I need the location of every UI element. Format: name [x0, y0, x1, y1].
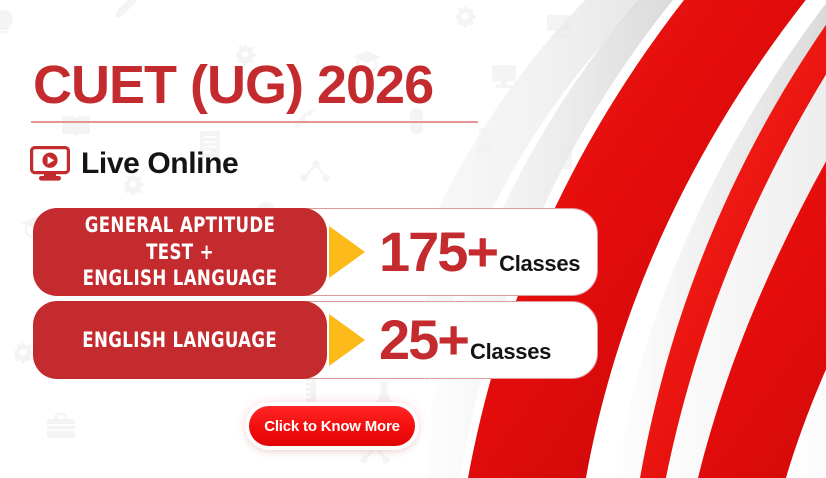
- monitor-play-icon: [30, 146, 70, 182]
- stat-value-group: 175+ Classes: [365, 224, 597, 280]
- title-underline-rule: [31, 121, 478, 123]
- triangle-right-icon: [329, 314, 365, 366]
- stat-bar-english-language[interactable]: ENGLISH LANGUAGE 25+ Classes: [33, 301, 598, 379]
- page-title: CUET (UG) 2026: [33, 58, 433, 112]
- triangle-right-icon: [329, 226, 365, 278]
- stat-value-group: 25+ Classes: [365, 312, 597, 368]
- course-pill: ENGLISH LANGUAGE: [33, 301, 327, 379]
- live-online-row: Live Online: [30, 146, 238, 182]
- cuet-promo-banner: CUET (UG) 2026 Live Online GENERAL APTIT…: [0, 0, 826, 478]
- course-pill: GENERAL APTITUDE TEST + ENGLISH LANGUAGE: [33, 208, 327, 296]
- live-online-label: Live Online: [81, 149, 238, 179]
- course-pill-label: GENERAL APTITUDE TEST + ENGLISH LANGUAGE: [63, 212, 297, 293]
- course-pill-line-2: ENGLISH LANGUAGE: [83, 266, 278, 290]
- stat-unit: Classes: [470, 341, 551, 363]
- cta-wrapper: Click to Know More: [249, 406, 415, 446]
- stat-bar-general-aptitude[interactable]: GENERAL APTITUDE TEST + ENGLISH LANGUAGE…: [33, 208, 598, 296]
- course-pill-line-1: GENERAL APTITUDE TEST +: [85, 213, 276, 264]
- stat-count: 25+: [379, 312, 468, 368]
- click-to-know-more-button[interactable]: Click to Know More: [249, 406, 415, 446]
- course-pill-label: ENGLISH LANGUAGE: [83, 327, 278, 354]
- stat-unit: Classes: [499, 253, 580, 275]
- stat-count: 175+: [379, 224, 497, 280]
- banner-content: CUET (UG) 2026 Live Online GENERAL APTIT…: [0, 0, 620, 478]
